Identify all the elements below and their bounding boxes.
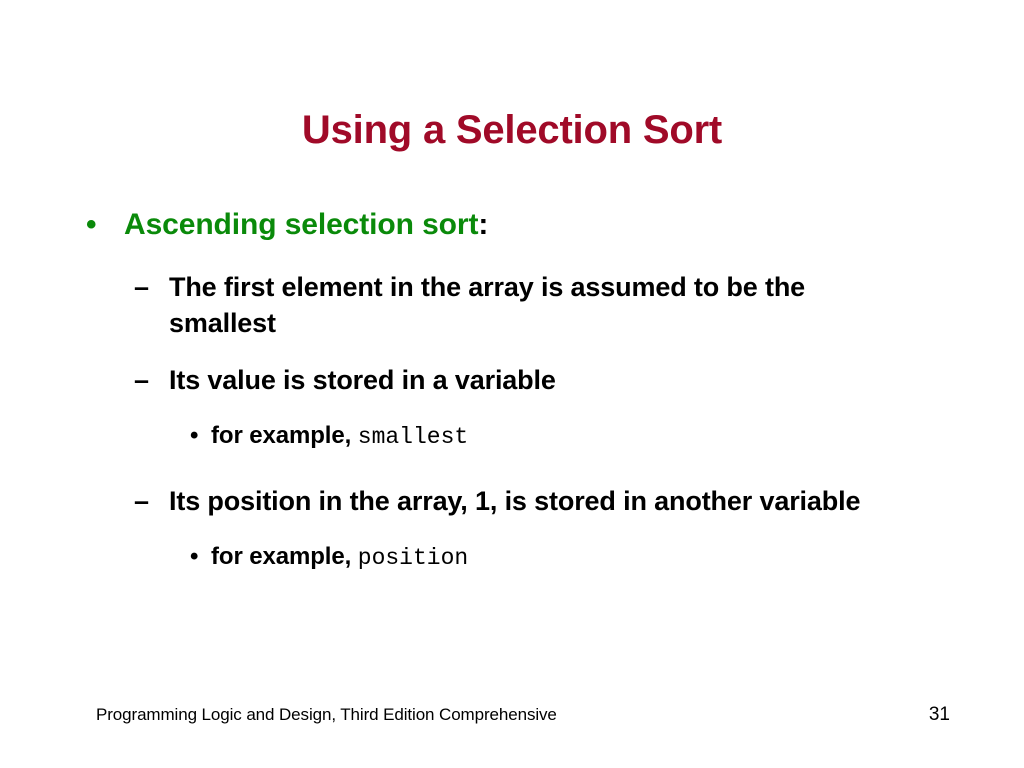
code-token: position [358, 545, 468, 571]
bullet-level1-content: Ascending selection sort: [124, 205, 488, 244]
bullet-dash-icon: – [134, 363, 169, 399]
bullet-level1-punctuation: : [478, 208, 488, 241]
page-title: Using a Selection Sort [0, 108, 1024, 152]
bullet-dash-icon: – [134, 270, 169, 306]
bullet-level3-content: for example, smallest [211, 420, 468, 453]
bullet-level1: • Ascending selection sort: [0, 205, 1024, 244]
slide-footer: Programming Logic and Design, Third Edit… [96, 704, 950, 726]
bullet-level2: – Its position in the array, 1, is store… [0, 484, 1024, 520]
bullet-level2-label: Its value is stored in a variable [169, 363, 556, 399]
footer-page-number: 31 [929, 704, 950, 726]
bullet-level3-label: for example, [211, 422, 351, 449]
slide-body: • Ascending selection sort: – The first … [0, 205, 1024, 585]
spacer [0, 410, 1024, 420]
bullet-dot-icon: • [190, 541, 211, 573]
spacer [0, 353, 1024, 363]
bullet-level3: • for example, smallest [0, 420, 1024, 453]
bullet-level3-label: for example, [211, 543, 351, 570]
bullet-level3-content: for example, position [211, 541, 468, 574]
bullet-level1-label: Ascending selection sort [124, 208, 478, 241]
bullet-dot-icon: • [86, 205, 124, 244]
code-token: smallest [358, 424, 468, 450]
spacer [0, 531, 1024, 541]
bullet-level2: – Its value is stored in a variable [0, 363, 1024, 399]
bullet-level2-label: The first element in the array is assume… [169, 270, 891, 342]
bullet-dash-icon: – [134, 484, 169, 520]
spacer [0, 464, 1024, 484]
bullet-level2: – The first element in the array is assu… [0, 270, 1024, 342]
bullet-level3: • for example, position [0, 541, 1024, 574]
slide-canvas: Using a Selection Sort • Ascending selec… [0, 0, 1024, 768]
bullet-dot-icon: • [190, 420, 211, 452]
spacer [0, 260, 1024, 270]
footer-source-label: Programming Logic and Design, Third Edit… [96, 705, 557, 725]
bullet-level2-label: Its position in the array, 1, is stored … [169, 484, 860, 520]
